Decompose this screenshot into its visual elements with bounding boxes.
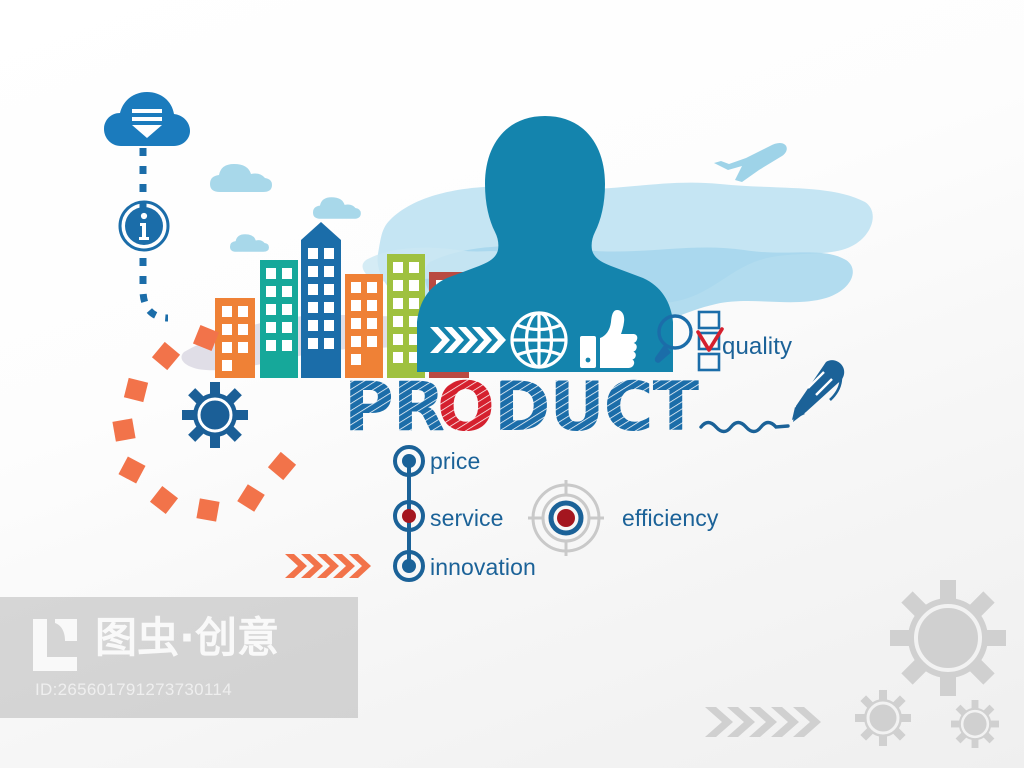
- cloud-decoration: [210, 162, 280, 194]
- keyword-label-price[interactable]: price: [430, 448, 480, 475]
- target-icon[interactable]: [526, 478, 606, 558]
- gear-icon[interactable]: [182, 382, 248, 448]
- magnifier-icon: [653, 312, 701, 366]
- svg-text:PR: PR: [344, 368, 444, 447]
- squiggle-underline: [700, 416, 790, 434]
- watermark-id: ID:265601791273730114: [35, 680, 232, 700]
- watermark-overlay: 图虫·创意 ID:265601791273730114: [0, 597, 358, 718]
- gear-icon: [951, 700, 999, 748]
- info-icon[interactable]: [118, 200, 170, 252]
- ring-dot-icon[interactable]: [393, 500, 425, 532]
- keyword-label-quality[interactable]: quality: [722, 333, 792, 361]
- chevron-arrows-icon: [285, 552, 375, 580]
- airplane-icon: [712, 140, 792, 186]
- watermark-logo-icon: [33, 619, 88, 671]
- keyword-label-service[interactable]: service: [430, 505, 504, 532]
- chevron-arrows-icon: [430, 325, 508, 355]
- building-3: [301, 222, 341, 378]
- gear-icon: [855, 690, 911, 746]
- keyword-label-innovation[interactable]: innovation: [430, 554, 536, 581]
- svg-text:DUCT: DUCT: [494, 368, 700, 447]
- thumbs-up-icon: [580, 308, 638, 370]
- keyword-label-efficiency[interactable]: efficiency: [622, 505, 718, 532]
- watermark-brand: 图虫·创意: [95, 617, 279, 659]
- chevron-arrows-icon: [705, 705, 827, 739]
- gear-icon: [890, 580, 1006, 696]
- svg-text:O: O: [437, 368, 495, 447]
- infographic-canvas: quality: [0, 0, 1024, 768]
- page-title: PR O DUCT: [344, 372, 714, 444]
- building-4: [345, 274, 383, 378]
- ring-dot-icon[interactable]: [393, 550, 425, 582]
- globe-icon: [509, 310, 569, 370]
- pen-icon[interactable]: [786, 360, 848, 434]
- ring-dot-icon[interactable]: [393, 445, 425, 477]
